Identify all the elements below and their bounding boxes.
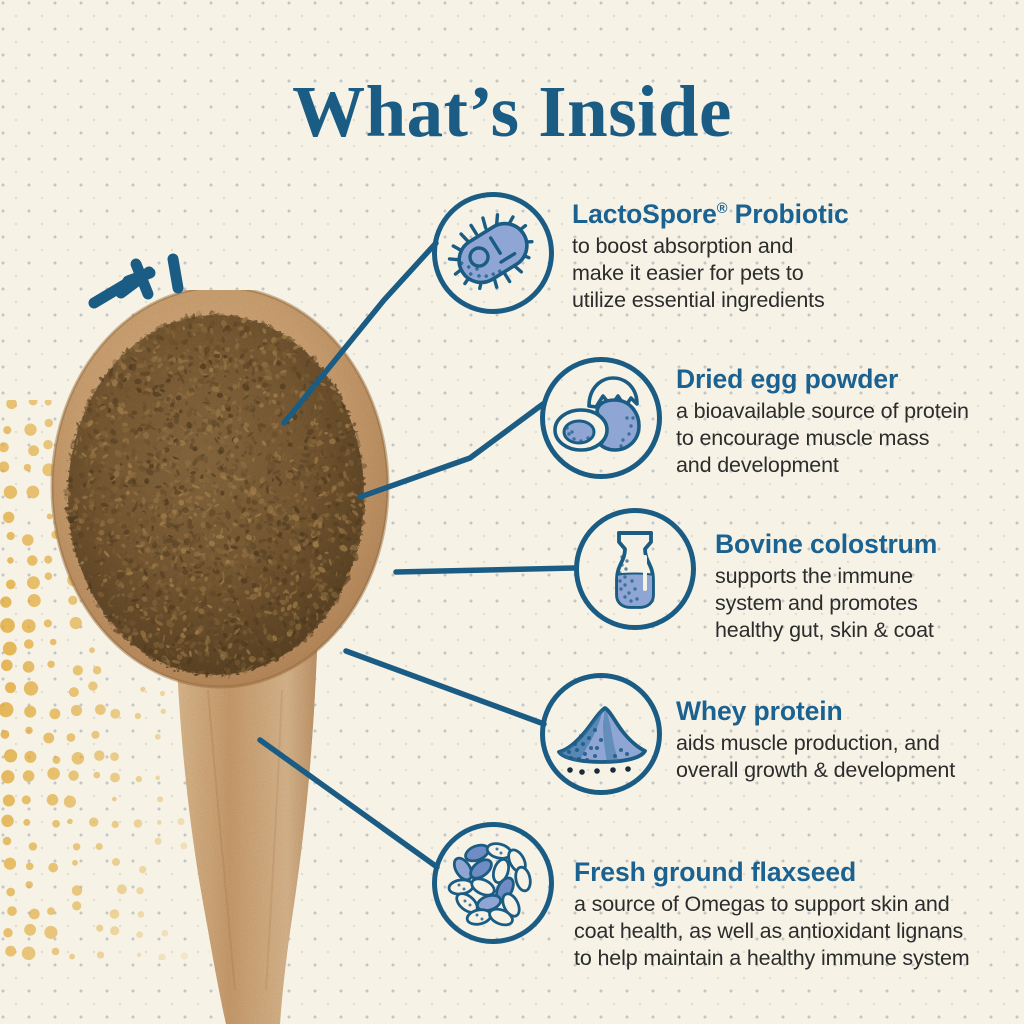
- callout-whey: Whey protein aids muscle production, and…: [676, 697, 955, 784]
- callout-flaxseed: Fresh ground flaxseed a source of Omegas…: [574, 858, 970, 972]
- callout-whey-body: aids muscle production, and overall grow…: [676, 730, 955, 784]
- bacteria-icon: [432, 192, 554, 314]
- callout-colostrum: Bovine colostrum supports the immune sys…: [715, 530, 937, 644]
- connector-flaxseed: [260, 740, 437, 867]
- callout-flaxseed-heading: Fresh ground flaxseed: [574, 858, 970, 888]
- callout-flaxseed-body: a source of Omegas to support skin and c…: [574, 891, 970, 972]
- infographic-canvas: What’s Inside: [0, 0, 1024, 1024]
- callout-whey-heading: Whey protein: [676, 697, 955, 727]
- cracked-egg-icon: [540, 357, 662, 479]
- powder-mound-icon: [540, 673, 662, 795]
- connector-probiotic: [284, 243, 436, 423]
- page-title: What’s Inside: [0, 70, 1024, 154]
- flaxseed-cluster-icon: [432, 822, 554, 944]
- callout-egg-heading: Dried egg powder: [676, 365, 969, 395]
- callout-probiotic-body: to boost absorption and make it easier f…: [572, 233, 849, 314]
- gold-halftone-pattern: [0, 400, 290, 960]
- connector-egg: [360, 404, 543, 497]
- connector-whey: [346, 651, 544, 724]
- callout-probiotic-heading: LactoSpore® Probiotic: [572, 200, 849, 230]
- callout-probiotic: LactoSpore® Probiotic to boost absorptio…: [572, 200, 849, 314]
- callout-colostrum-body: supports the immune system and promotes …: [715, 563, 937, 644]
- wooden-spoon-image: [30, 290, 500, 1024]
- connector-colostrum: [396, 568, 574, 572]
- callout-egg: Dried egg powder a bioavailable source o…: [676, 365, 969, 479]
- callout-egg-body: a bioavailable source of protein to enco…: [676, 398, 969, 479]
- callout-colostrum-heading: Bovine colostrum: [715, 530, 937, 560]
- milk-bottle-icon: [574, 508, 696, 630]
